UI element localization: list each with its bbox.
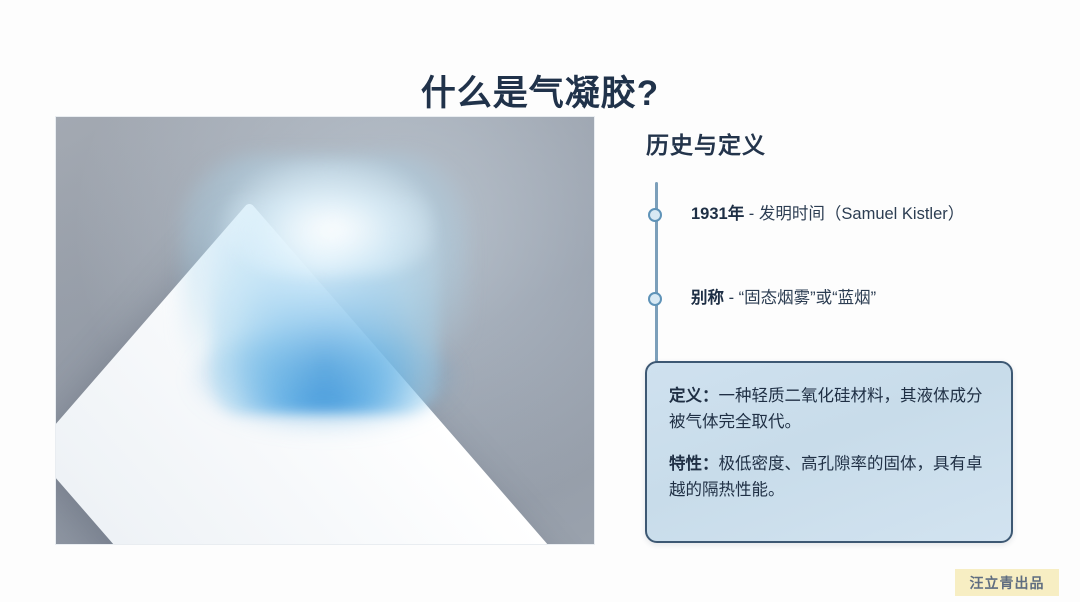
aerogel-block-illustration [175,155,475,455]
page-title: 什么是气凝胶? [0,65,1080,116]
section-heading-history-definition: 历史与定义 [646,126,1026,160]
timeline-item-text: 1931年 - 发明时间（Samuel Kistler） [691,202,1026,227]
timeline-item-label: 别称 [691,289,724,307]
timeline-item-alias: 别称 - “固态烟雾”或“蓝烟” [691,286,1026,370]
definition-info-box: 定义：一种轻质二氧化硅材料，其液体成分被气体完全取代。 特性：极低密度、高孔隙率… [645,361,1013,543]
properties-label: 特性： [669,455,719,473]
slide-canvas: 什么是气凝胶? 历史与定义 1931年 - 发明时间（Samuel Kistle… [0,0,1080,602]
timeline-item-label: 1931年 [691,205,744,223]
right-content-column: 历史与定义 1931年 - 发明时间（Samuel Kistler） 别称 - … [646,126,1026,384]
definition-label: 定义： [669,387,719,405]
timeline-dot-icon [648,292,662,306]
timeline-item-detail: 发明时间（Samuel Kistler） [759,205,964,223]
timeline-item-detail: “固态烟雾”或“蓝烟” [739,289,876,307]
aerogel-photo [56,117,594,544]
timeline: 1931年 - 发明时间（Samuel Kistler） 别称 - “固态烟雾”… [655,182,1026,384]
definition-paragraph: 定义：一种轻质二氧化硅材料，其液体成分被气体完全取代。 [669,383,989,435]
aerogel-top-highlight [223,161,433,275]
watermark-label: 汪立青出品 [970,573,1045,593]
watermark-badge: 汪立青出品 [955,569,1059,596]
timeline-item-invention-year: 1931年 - 发明时间（Samuel Kistler） [691,202,1026,286]
timeline-dot-icon [648,208,662,222]
timeline-item-separator: - [724,289,739,307]
timeline-item-separator: - [744,205,759,223]
properties-paragraph: 特性：极低密度、高孔隙率的固体，具有卓越的隔热性能。 [669,451,989,503]
timeline-item-text: 别称 - “固态烟雾”或“蓝烟” [691,286,1026,311]
